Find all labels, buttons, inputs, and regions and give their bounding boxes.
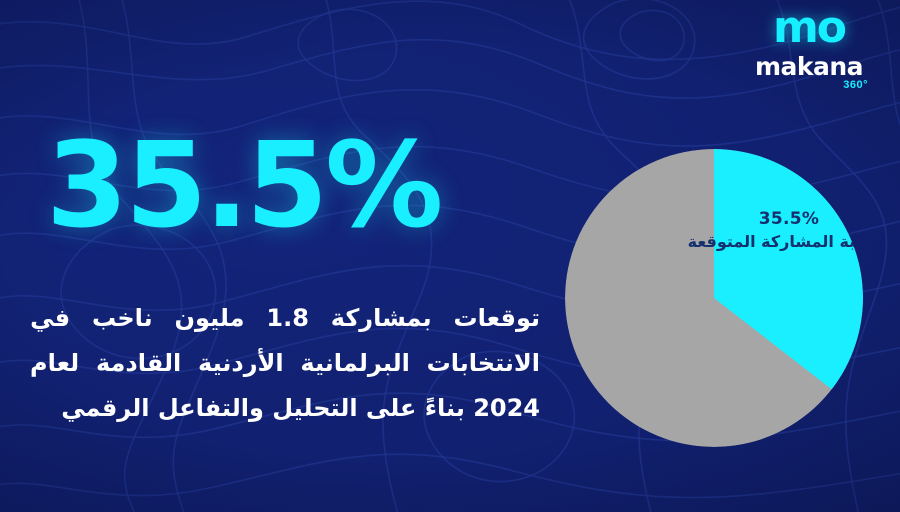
body-line-2-word: البرلمانية xyxy=(300,341,409,386)
body-line-3: 2024 بناءً على التحليل والتفاعل الرقمي xyxy=(30,386,540,431)
body-line-1-word: مليون xyxy=(175,296,245,341)
headline-statistic: 35.5% xyxy=(46,126,546,244)
body-line-1-word: 1.8 xyxy=(266,296,309,341)
brand-logo: mo makana 360° xyxy=(744,6,874,91)
body-copy: توقعات بمشاركة 1.8 مليون ناخب في الانتخا… xyxy=(30,296,540,431)
logo-wordmark: makana xyxy=(744,54,874,79)
body-line-2: الانتخابات البرلمانية الأردنية القادمة ل… xyxy=(30,341,540,386)
participation-pie-chart: 35.5% نسبة المشاركة المتوقعة xyxy=(564,148,864,448)
body-line-1-word: ناخب xyxy=(92,296,153,341)
body-line-2-word: لعام xyxy=(30,341,79,386)
body-line-1-word: توقعات xyxy=(454,296,540,341)
body-line-2-word: الأردنية xyxy=(198,341,284,386)
body-line-1-word: بمشاركة xyxy=(331,296,432,341)
body-line-1: توقعات بمشاركة 1.8 مليون ناخب في xyxy=(30,296,540,341)
logo-mark-icon: mo xyxy=(744,6,874,50)
infographic-canvas: mo makana 360° 35.5% توقعات بمشاركة 1.8 … xyxy=(0,0,900,512)
logo-sub-360: 360° xyxy=(744,80,874,91)
body-line-2-word: الانتخابات xyxy=(427,341,540,386)
body-line-2-word: القادمة xyxy=(96,341,181,386)
body-line-1-word: في xyxy=(30,296,70,341)
